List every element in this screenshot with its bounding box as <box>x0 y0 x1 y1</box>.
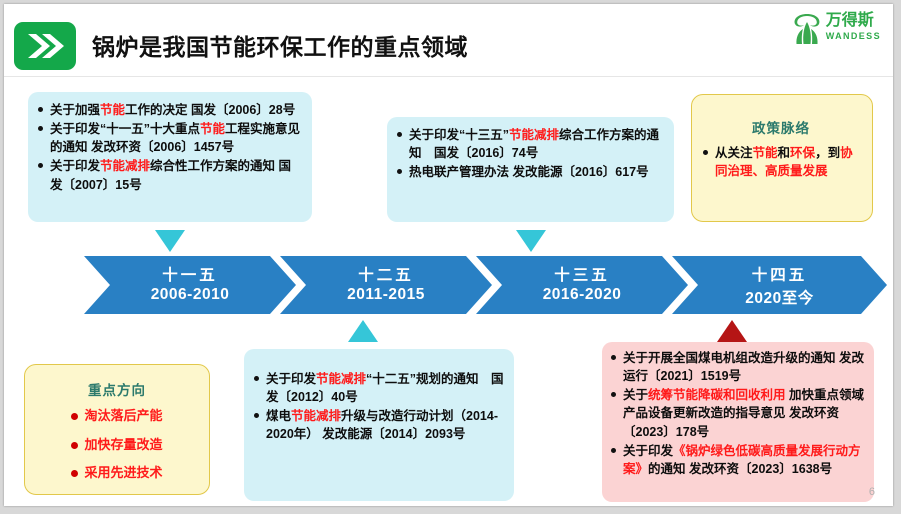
chevron-label-cn: 十二五 <box>280 263 492 285</box>
list-item: 加快存量改造 <box>35 435 199 455</box>
body-text: 从关注 <box>715 146 753 160</box>
logo-text-en: WANDESS <box>826 32 881 41</box>
list-item: 关于印发“十一五”十大重点节能工程实施意见的通知 发改环资〔2006〕1457号 <box>37 120 302 156</box>
body-text: 工作的决定 国发〔2006〕28号 <box>125 103 295 117</box>
connector-triangle-11th <box>155 230 185 252</box>
body-text: 的通知 发改环资〔2023〕1638号 <box>648 462 832 476</box>
slide: 锅炉是我国节能环保工作的重点领域 万得斯 WANDESS 关于加强节能工作的决定… <box>4 4 893 506</box>
timeline-chevron-13th[interactable]: 十三五 2016-2020 <box>476 256 688 314</box>
brand-logo: 万得斯 WANDESS <box>792 13 881 46</box>
chevron-label-years: 2020至今 <box>672 286 887 308</box>
callout-11th-five-year-plan: 关于加强节能工作的决定 国发〔2006〕28号关于印发“十一五”十大重点节能工程… <box>28 92 312 222</box>
body-text: 关于印发 <box>50 159 100 173</box>
highlighted-text: 节能 <box>100 103 125 117</box>
body-text: 和 <box>778 146 791 160</box>
callout-key-directions: 重点方向 淘汰落后产能加快存量改造采用先进技术 <box>24 364 210 495</box>
body-text: 煤电 <box>266 409 291 423</box>
body-text: ，到 <box>815 146 840 160</box>
policy-thread-title: 政策脉络 <box>702 117 860 137</box>
connector-triangle-12th <box>348 320 378 342</box>
chevron-label-cn: 十三五 <box>476 263 688 285</box>
highlighted-text: 节能减排 <box>100 159 150 173</box>
key-directions-list: 淘汰落后产能加快存量改造采用先进技术 <box>35 406 199 483</box>
timeline-chevron-14th[interactable]: 十四五 2020至今 <box>672 256 887 314</box>
callout-12th-five-year-plan: 关于印发节能减排“十二五”规划的通知 国发〔2012〕40号煤电节能减排升级与改… <box>244 349 514 501</box>
chevron-label-cn: 十一五 <box>84 263 296 285</box>
policy-thread-list: 从关注节能和环保，到协同治理、高质量发展 <box>702 144 860 180</box>
chevron-label-years: 2006-2010 <box>84 286 296 304</box>
header-badge <box>14 22 76 70</box>
highlighted-text: 节能减排 <box>509 128 559 142</box>
highlighted-text: 环保 <box>790 146 815 160</box>
wandess-sprout-logo-icon <box>792 13 822 46</box>
list-item: 淘汰落后产能 <box>35 406 199 426</box>
policy-list-12th: 关于印发节能减排“十二五”规划的通知 国发〔2012〕40号煤电节能减排升级与改… <box>253 370 504 444</box>
timeline-band: 十一五 2006-2010 十二五 2011-2015 十三五 2016-202… <box>84 256 887 314</box>
page-number: 6 <box>869 486 875 498</box>
chevron-label-cn: 十四五 <box>672 263 887 285</box>
list-item: 关于印发节能减排综合性工作方案的通知 国发〔2007〕15号 <box>37 157 302 193</box>
highlighted-text: 节能减排 <box>291 409 341 423</box>
timeline-chevron-11th[interactable]: 十一五 2006-2010 <box>84 256 296 314</box>
chevron-label-years: 2011-2015 <box>280 286 492 304</box>
double-chevron-right-icon <box>25 32 65 60</box>
key-directions-title: 重点方向 <box>35 379 199 399</box>
list-item: 煤电节能减排升级与改造行动计划（2014-2020年） 发改能源〔2014〕20… <box>253 407 504 443</box>
list-item: 关于印发《锅炉绿色低碳高质量发展行动方案》的通知 发改环资〔2023〕1638号 <box>610 442 866 478</box>
body-text: 关于开展全国煤电机组改造升级的通知 发改运行〔2021〕1519号 <box>623 351 864 383</box>
list-item: 采用先进技术 <box>35 463 199 483</box>
body-text: 关于印发 <box>266 372 316 386</box>
header-divider <box>4 76 893 77</box>
body-text: 关于 <box>623 388 648 402</box>
policy-list-11th: 关于加强节能工作的决定 国发〔2006〕28号关于印发“十一五”十大重点节能工程… <box>37 101 302 194</box>
body-text: 关于印发“十三五” <box>409 128 509 142</box>
list-item: 关于开展全国煤电机组改造升级的通知 发改运行〔2021〕1519号 <box>610 349 866 385</box>
highlighted-text: 统筹节能降碳和回收利用 <box>648 388 786 402</box>
logo-text-cn: 万得斯 <box>826 13 881 29</box>
connector-triangle-13th <box>516 230 546 252</box>
body-text: 关于印发 <box>623 444 673 458</box>
callout-14th-five-year-plan: 关于开展全国煤电机组改造升级的通知 发改运行〔2021〕1519号关于统筹节能降… <box>602 342 874 502</box>
body-text: 热电联产管理办法 发改能源〔2016〕617号 <box>409 165 649 179</box>
page-title: 锅炉是我国节能环保工作的重点领域 <box>92 28 468 62</box>
highlighted-text: 节能 <box>753 146 778 160</box>
list-item: 热电联产管理办法 发改能源〔2016〕617号 <box>396 163 664 181</box>
policy-list-13th: 关于印发“十三五”节能减排综合工作方案的通知 国发〔2016〕74号热电联产管理… <box>396 126 664 181</box>
list-item: 从关注节能和环保，到协同治理、高质量发展 <box>702 144 860 180</box>
chevron-label-years: 2016-2020 <box>476 286 688 304</box>
highlighted-text: 节能减排 <box>316 372 366 386</box>
list-item: 关于印发“十三五”节能减排综合工作方案的通知 国发〔2016〕74号 <box>396 126 664 162</box>
timeline-chevron-12th[interactable]: 十二五 2011-2015 <box>280 256 492 314</box>
list-item: 关于印发节能减排“十二五”规划的通知 国发〔2012〕40号 <box>253 370 504 406</box>
callout-13th-five-year-plan: 关于印发“十三五”节能减排综合工作方案的通知 国发〔2016〕74号热电联产管理… <box>387 117 674 222</box>
list-item: 关于加强节能工作的决定 国发〔2006〕28号 <box>37 101 302 119</box>
highlighted-text: 节能 <box>200 122 225 136</box>
body-text: 关于印发“十一五”十大重点 <box>50 122 200 136</box>
connector-triangle-14th <box>717 320 747 342</box>
callout-policy-thread: 政策脉络 从关注节能和环保，到协同治理、高质量发展 <box>691 94 873 222</box>
body-text: 关于加强 <box>50 103 100 117</box>
policy-list-14th: 关于开展全国煤电机组改造升级的通知 发改运行〔2021〕1519号关于统筹节能降… <box>610 349 866 478</box>
list-item: 关于统筹节能降碳和回收利用 加快重点领域产品设备更新改造的指导意见 发改环资〔2… <box>610 386 866 440</box>
